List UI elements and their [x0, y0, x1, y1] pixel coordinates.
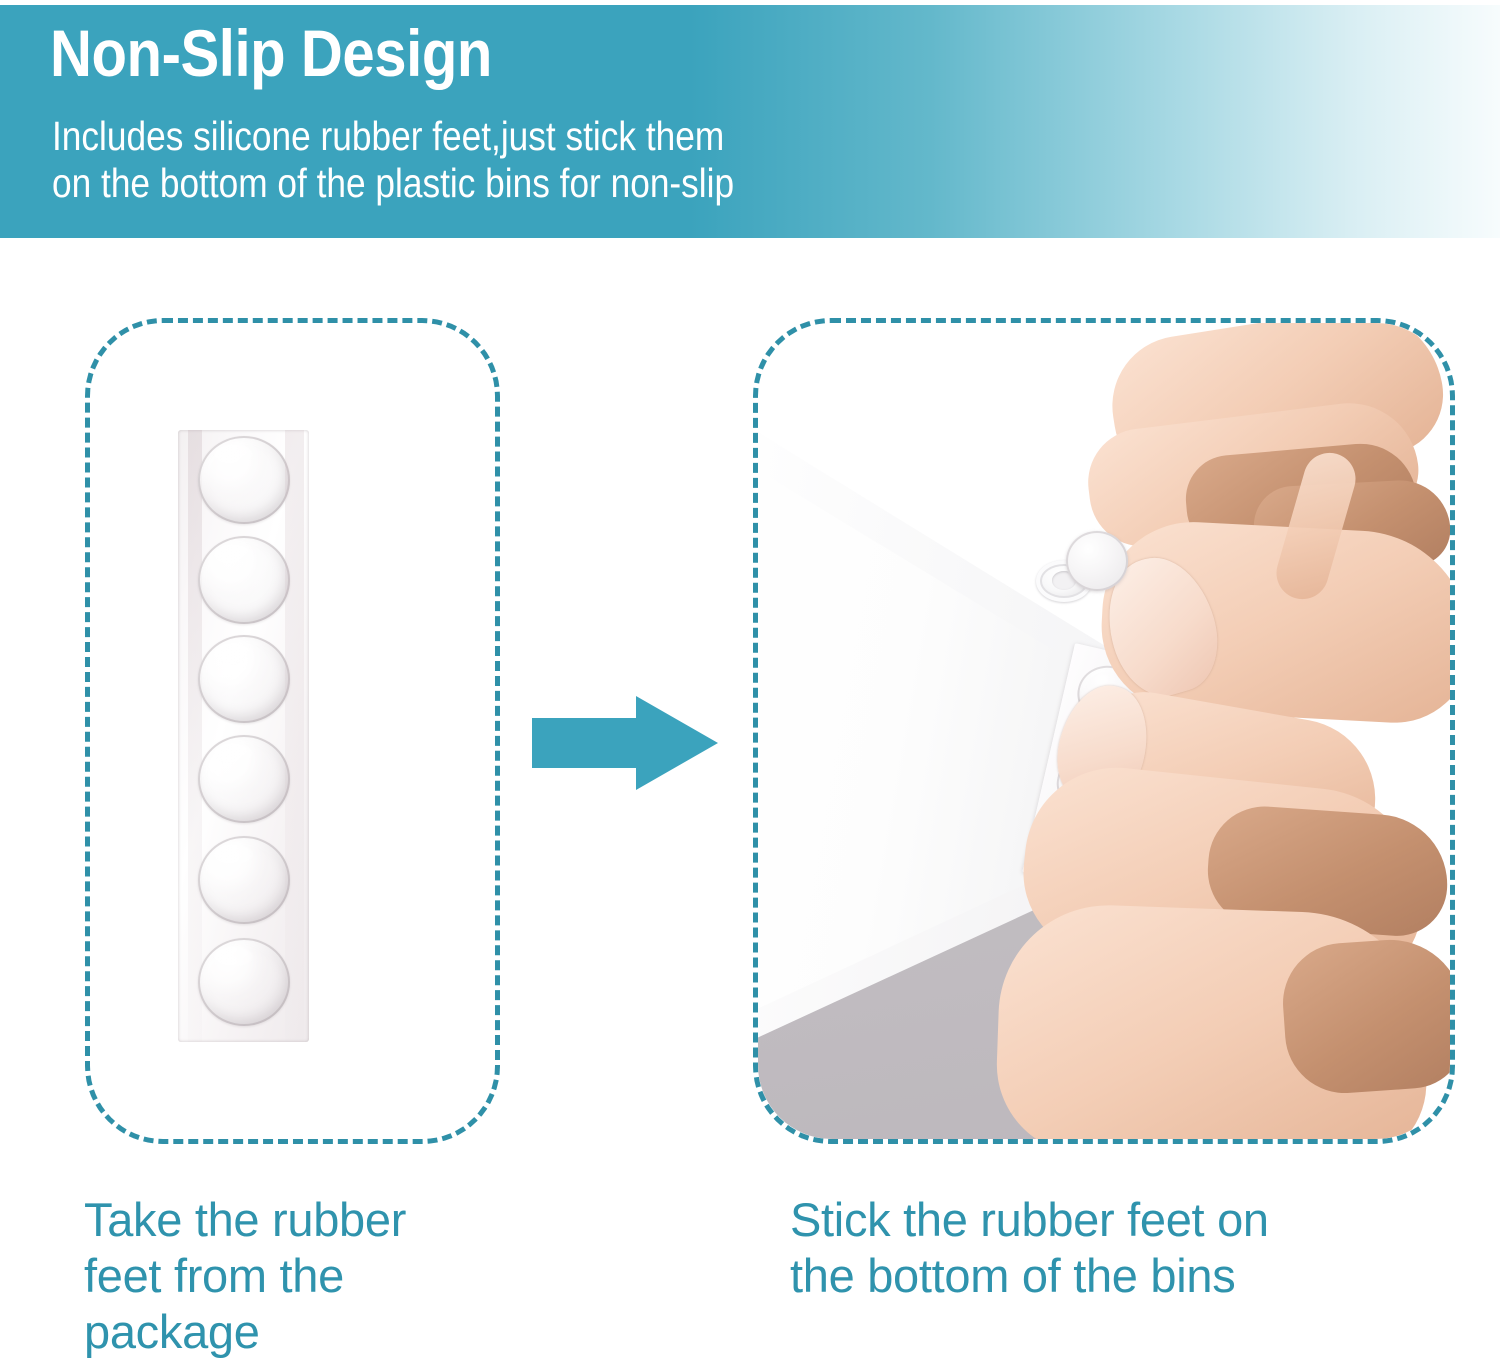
- rubber-foot-dome: [198, 938, 290, 1026]
- arrow-shape: [532, 696, 718, 790]
- banner-subtitle-line-2: on the bottom of the plastic bins for no…: [52, 160, 734, 207]
- step-arrow-icon: [532, 694, 718, 792]
- step-1-caption: Take the rubber feet from the package: [84, 1192, 514, 1360]
- step-2-caption: Stick the rubber feet on the bottom of t…: [790, 1192, 1450, 1304]
- header-banner: Non-Slip Design Includes silicone rubber…: [0, 5, 1500, 238]
- dome-highlight: [214, 844, 253, 865]
- dome-highlight: [214, 643, 253, 664]
- step-1-caption-line-1: Take the rubber: [84, 1192, 514, 1248]
- rubber-foot-dome: [198, 635, 290, 723]
- step-2-image-clip: [758, 323, 1450, 1139]
- step-1-image-clip: [90, 323, 495, 1139]
- step-1-caption-line-3: package: [84, 1304, 514, 1360]
- rubber-foot-dome: [198, 436, 290, 524]
- ring-finger: [1279, 935, 1450, 1097]
- dome-highlight: [214, 743, 253, 764]
- step-1-caption-line-2: feet from the: [84, 1248, 514, 1304]
- single-rubber-foot: [1066, 531, 1128, 591]
- banner-subtitle: Includes silicone rubber feet,just stick…: [52, 113, 734, 207]
- step-2-caption-line-1: Stick the rubber feet on: [790, 1192, 1450, 1248]
- silicone-feet-strip: [178, 430, 309, 1042]
- page-title: Non-Slip Design: [50, 15, 492, 91]
- step-2-caption-line-2: the bottom of the bins: [790, 1248, 1450, 1304]
- banner-subtitle-line-1: Includes silicone rubber feet,just stick…: [52, 113, 734, 160]
- rubber-foot-dome: [198, 735, 290, 823]
- rubber-foot-dome: [198, 536, 290, 624]
- dome-highlight: [214, 946, 253, 967]
- step-1-image-panel: [85, 318, 500, 1144]
- dome-highlight: [214, 544, 253, 565]
- lower-hand: [998, 713, 1450, 1139]
- step-2-image-panel: [753, 318, 1455, 1144]
- dome-highlight: [214, 444, 253, 465]
- rubber-foot-dome: [198, 836, 290, 924]
